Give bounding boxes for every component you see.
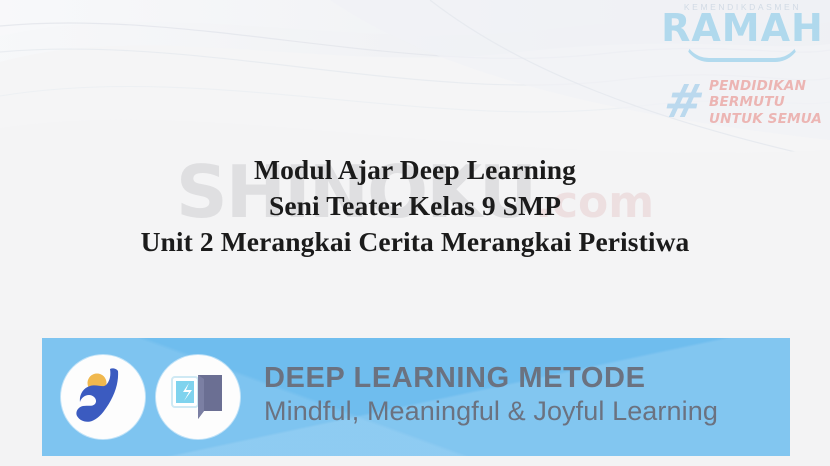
open-book-icon: [156, 355, 240, 439]
ministry-label: KEMENDIKDASMEN: [655, 2, 830, 12]
motto-line-1: PENDIDIKAN: [709, 78, 822, 94]
hashtag-icon: #: [660, 78, 708, 124]
title-line-1: Modul Ajar Deep Learning: [0, 152, 830, 188]
motto-line-3: UNTUK SEMUA: [709, 111, 822, 127]
banner-heading: DEEP LEARNING METODE: [264, 363, 718, 394]
ramah-brand-logo: RAMAH: [655, 9, 830, 47]
pendidikan-bermutu-logo: # PENDIDIKAN BERMUTU UNTUK SEMUA: [659, 72, 830, 132]
motto-text: PENDIDIKAN BERMUTU UNTUK SEMUA: [709, 78, 822, 127]
banner-text-block: DEEP LEARNING METODE Mindful, Meaningful…: [264, 363, 718, 428]
person-figure-icon: [61, 355, 145, 439]
motto-line-2: BERMUTU: [709, 94, 822, 110]
logo-stack: KEMENDIKDASMEN RAMAH # PENDIDIKAN BERMUT…: [655, 0, 830, 140]
slide-canvas: SHINOKU.com KEMENDIKDASMEN RAMAH # PENDI…: [0, 0, 830, 466]
deep-learning-banner: DEEP LEARNING METODE Mindful, Meaningful…: [42, 338, 790, 456]
page-title: Modul Ajar Deep Learning Seni Teater Kel…: [0, 152, 830, 259]
banner-subheading: Mindful, Meaningful & Joyful Learning: [264, 396, 718, 428]
title-line-3: Unit 2 Merangkai Cerita Merangkai Perist…: [0, 224, 830, 260]
ramah-smile-icon: [683, 36, 801, 62]
title-line-2: Seni Teater Kelas 9 SMP: [0, 188, 830, 224]
